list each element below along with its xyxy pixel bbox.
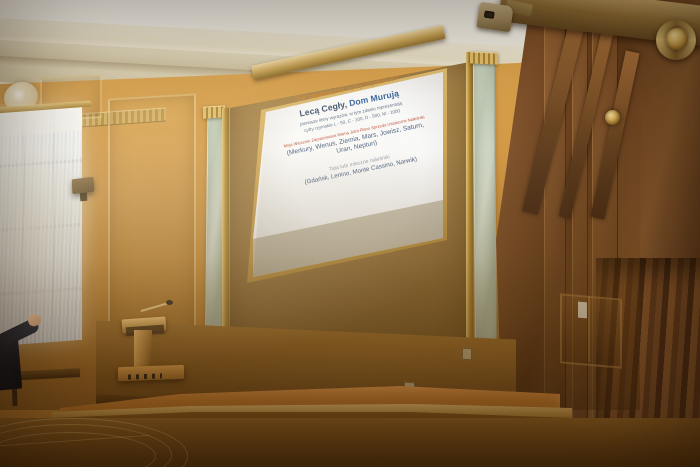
wood-plank xyxy=(572,0,588,467)
sheer-curtain xyxy=(0,105,82,346)
gilded-rosette-large xyxy=(666,28,688,50)
lecture-hall-photo: Jak zapamiętać cyfry rzymskie? Lecą Cegł… xyxy=(0,0,700,467)
wall-outlet-secondary xyxy=(462,348,472,361)
wall-panel-right xyxy=(560,293,622,368)
lectern-column xyxy=(134,330,152,370)
gilded-rosette-small xyxy=(605,110,620,125)
microphone-head xyxy=(166,300,173,305)
wall-panel-left xyxy=(108,93,196,352)
wall-notice-card xyxy=(578,302,587,319)
pilaster-capital-right xyxy=(470,51,498,64)
wall-panel-right-divider xyxy=(588,296,590,362)
window xyxy=(0,105,82,346)
wall-speaker xyxy=(72,177,95,195)
ceiling-camera xyxy=(476,2,513,32)
